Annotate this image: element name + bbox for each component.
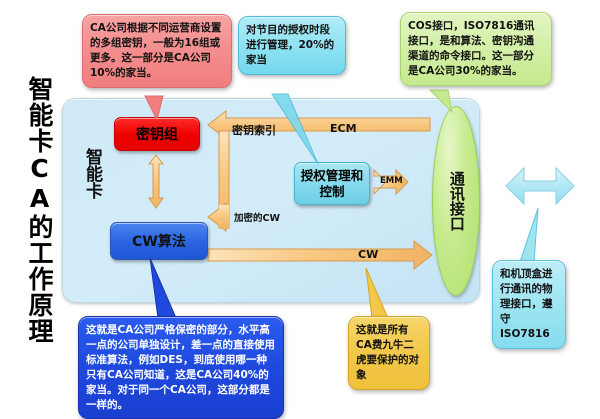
page-title: 智能卡CA的工作原理 [6,70,52,350]
callout-auth-management-text: 对节目的授权时段进行管理，20%的家当 [246,24,334,66]
callout-key-group-text: CA公司根据不同运营商设置的多组密钥，一般为16组或更多。这一部分是CA公司10… [90,22,221,79]
callout-cw-protected-text: 这就是所有CA费九牛二虎要保护的对象 [356,324,419,381]
callout-cw-algorithm-text: 这就是CA公司严格保密的部分，水平高一点的公司单独设计，差一点的直接使用标准算法… [86,324,275,411]
callout-physical-interface[interactable]: 和机顶盒进行通讯的物理接口，遵守ISO7816 [492,260,566,349]
box-key-group[interactable]: 密钥组 [114,117,200,151]
box-cw-algorithm[interactable]: CW算法 [110,222,208,260]
cw-label: CW [358,248,378,261]
comm-interface-label: 通讯接口 [448,171,464,231]
comm-interface-ellipse[interactable]: 通讯接口 [432,106,480,296]
box-key-group-label: 密钥组 [136,124,178,144]
callout-comm-interface-text: COS接口，ISO7816通讯接口，是和算法、密钥沟通渠道的命令接口。这一部分是… [408,20,534,77]
callout-physical-interface-text: 和机顶盒进行通讯的物理接口，遵守ISO7816 [500,268,553,340]
encrypted-cw-label: 加密的CW [234,210,280,224]
box-auth-management-label: 授权管理和控制 [295,168,369,199]
diagram-canvas: 智能卡CA的工作原理 智能卡 [0,0,600,412]
box-auth-management[interactable]: 授权管理和控制 [294,162,370,205]
key-index-label: 密钥索引 [232,122,276,138]
external-link-arrow-shape [506,168,574,204]
box-cw-algorithm-label: CW算法 [132,231,186,251]
callout-auth-management[interactable]: 对节目的授权时段进行管理，20%的家当 [238,16,346,75]
smartcard-panel-label: 智能卡 [70,148,100,199]
callout-cw-algorithm[interactable]: 这就是CA公司严格保密的部分，水平高一点的公司单独设计，差一点的直接使用标准算法… [78,316,284,419]
callout-cw-protected[interactable]: 这就是所有CA费九牛二虎要保护的对象 [348,316,430,390]
callout-physical-interface-tail [520,208,538,262]
callout-key-group[interactable]: CA公司根据不同运营商设置的多组密钥，一般为16组或更多。这一部分是CA公司10… [82,14,232,88]
emm-label: EMM [380,176,403,186]
ecm-label: ECM [330,122,357,135]
callout-comm-interface[interactable]: COS接口，ISO7816通讯接口，是和算法、密钥沟通渠道的命令接口。这一部分是… [400,12,552,86]
